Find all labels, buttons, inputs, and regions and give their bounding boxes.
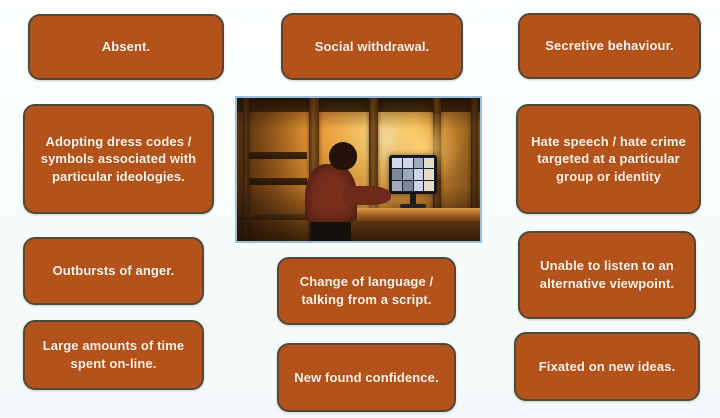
node-label: Absent. [102,38,150,56]
node-label: Hate speech / hate crime targeted at a p… [528,133,689,186]
person-head [329,142,357,170]
node-social-withdrawal[interactable]: Social withdrawal. [281,13,463,80]
node-unable-to-listen[interactable]: Unable to listen to an alternative viewp… [518,231,696,319]
video-tile [414,158,424,168]
node-new-found-confidence[interactable]: New found confidence. [277,343,456,412]
node-adopting-dress-codes[interactable]: Adopting dress codes / symbols associate… [23,104,214,214]
video-tile [392,181,402,191]
photo-scene [237,98,480,241]
node-label: Social withdrawal. [315,38,430,56]
node-outbursts-of-anger[interactable]: Outbursts of anger. [23,237,204,305]
video-tile [414,181,424,191]
node-fixated-on-new-ideas[interactable]: Fixated on new ideas. [514,332,700,401]
video-tile [392,169,402,179]
video-tile [424,169,434,179]
node-change-of-language[interactable]: Change of language / talking from a scri… [277,257,456,325]
node-hate-speech[interactable]: Hate speech / hate crime targeted at a p… [516,104,701,214]
node-label: Fixated on new ideas. [539,358,675,376]
node-label: Adopting dress codes / symbols associate… [35,133,202,186]
monitor-base [400,204,426,208]
diagram-canvas: Absent. Social withdrawal. Secretive beh… [0,0,720,418]
node-label: Large amounts of time spent on-line. [35,337,192,372]
video-tile [403,181,413,191]
video-tile [403,169,413,179]
node-absent[interactable]: Absent. [28,14,224,80]
video-tile [424,181,434,191]
video-tile [414,169,424,179]
person-at-computer-photo [235,96,482,243]
video-tile [403,158,413,168]
video-tile [424,158,434,168]
node-label: Secretive behaviour. [545,37,673,55]
node-secretive-behaviour[interactable]: Secretive behaviour. [518,13,701,79]
node-label: New found confidence. [294,369,438,387]
video-tile [392,158,402,168]
node-label: Outbursts of anger. [53,262,175,280]
node-large-amounts-of-time-online[interactable]: Large amounts of time spent on-line. [23,320,204,390]
video-call-grid [391,157,435,192]
person-arm [343,186,391,205]
node-label: Unable to listen to an alternative viewp… [530,257,684,292]
node-label: Change of language / talking from a scri… [289,273,444,308]
